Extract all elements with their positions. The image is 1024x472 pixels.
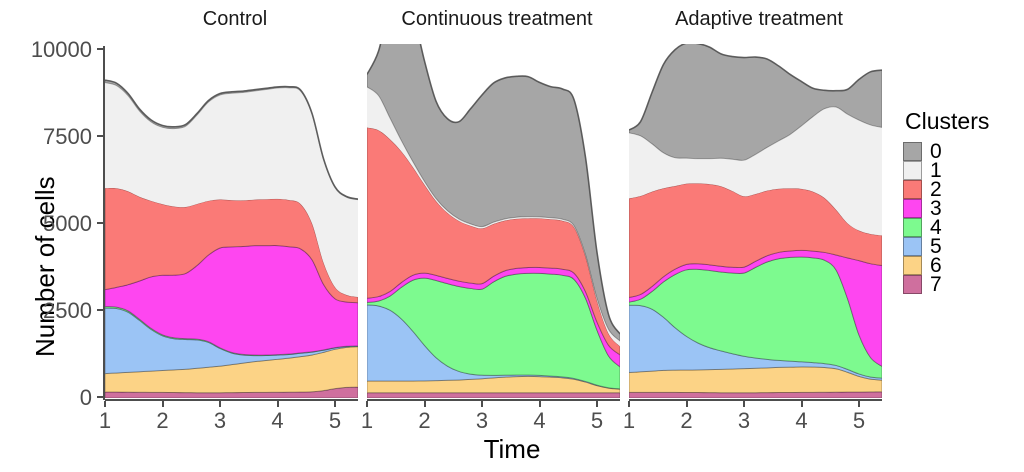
legend-key-0 (903, 142, 922, 161)
legend-key-1 (903, 161, 922, 180)
x-tick-mark-p2-5 (858, 401, 860, 407)
x-tick-mark-p1-5 (596, 401, 598, 407)
y-tick-label-0: 0 (0, 385, 92, 411)
legend-key-7 (903, 275, 922, 294)
legend-title: Clusters (905, 108, 989, 135)
x-tick-mark-p2-3 (743, 401, 745, 407)
legend-item-0[interactable]: 0 (903, 142, 989, 161)
legend-key-4 (903, 218, 922, 237)
y-tick-mark-0 (97, 396, 103, 398)
x-axis-line-control (105, 399, 358, 401)
x-tick-label-p1-3: 3 (457, 408, 507, 434)
x-tick-mark-p1-1 (366, 401, 368, 407)
x-tick-label-p2-5: 5 (834, 408, 884, 434)
legend-key-3 (903, 199, 922, 218)
legend-item-6[interactable]: 6 (903, 256, 989, 275)
y-tick-mark-5000 (97, 222, 103, 224)
x-tick-label-p0-4: 4 (253, 408, 303, 434)
facet-title-continuous: Continuous treatment (374, 8, 620, 30)
legend-item-7[interactable]: 7 (903, 275, 989, 294)
x-tick-label-p2-4: 4 (777, 408, 827, 434)
panel-continuous-treatment (367, 44, 620, 398)
x-axis-line-adaptive (629, 399, 882, 401)
x-tick-mark-p1-4 (539, 401, 541, 407)
x-tick-mark-p2-4 (801, 401, 803, 407)
x-tick-label-p0-2: 2 (138, 408, 188, 434)
legend-item-2[interactable]: 2 (903, 180, 989, 199)
legend: Clusters 01234567 (903, 108, 989, 294)
legend-item-1[interactable]: 1 (903, 161, 989, 180)
legend-items: 01234567 (903, 142, 989, 294)
x-axis-line-continuous (367, 399, 620, 401)
x-tick-label-p1-4: 4 (515, 408, 565, 434)
area-panel1-cluster-7 (367, 393, 620, 398)
legend-key-5 (903, 237, 922, 256)
legend-item-4[interactable]: 4 (903, 218, 989, 237)
x-tick-mark-p0-4 (277, 401, 279, 407)
chart-root: Control Continuous treatment Adaptive tr… (0, 0, 1024, 472)
legend-key-2 (903, 180, 922, 199)
y-tick-label-2500: 2500 (0, 298, 92, 324)
x-tick-label-p2-2: 2 (662, 408, 712, 434)
legend-item-3[interactable]: 3 (903, 199, 989, 218)
y-tick-label-5000: 5000 (0, 211, 92, 237)
x-tick-mark-p0-3 (219, 401, 221, 407)
y-tick-mark-7500 (97, 135, 103, 137)
facet-title-adaptive: Adaptive treatment (636, 8, 882, 30)
x-tick-label-p0-3: 3 (195, 408, 245, 434)
legend-label-7: 7 (930, 275, 942, 294)
y-tick-label-7500: 7500 (0, 124, 92, 150)
x-tick-mark-p0-2 (162, 401, 164, 407)
y-tick-mark-10000 (97, 48, 103, 50)
y-tick-label-10000: 10000 (0, 37, 92, 63)
x-tick-mark-p0-1 (104, 401, 106, 407)
panel-adaptive-treatment (629, 44, 882, 398)
y-tick-mark-2500 (97, 309, 103, 311)
x-axis-label: Time (0, 434, 1024, 465)
x-tick-mark-p0-5 (334, 401, 336, 407)
x-tick-mark-p2-1 (628, 401, 630, 407)
facet-title-control: Control (112, 8, 358, 30)
x-tick-mark-p1-2 (424, 401, 426, 407)
x-tick-label-p1-1: 1 (342, 408, 392, 434)
legend-key-6 (903, 256, 922, 275)
panel-control (105, 44, 358, 398)
x-tick-label-p0-1: 1 (80, 408, 130, 434)
x-tick-mark-p2-2 (686, 401, 688, 407)
y-axis-label: Number of cells (30, 176, 61, 357)
x-tick-mark-p1-3 (481, 401, 483, 407)
x-tick-label-p2-3: 3 (719, 408, 769, 434)
legend-item-5[interactable]: 5 (903, 237, 989, 256)
x-tick-label-p1-2: 2 (400, 408, 450, 434)
x-tick-label-p2-1: 1 (604, 408, 654, 434)
